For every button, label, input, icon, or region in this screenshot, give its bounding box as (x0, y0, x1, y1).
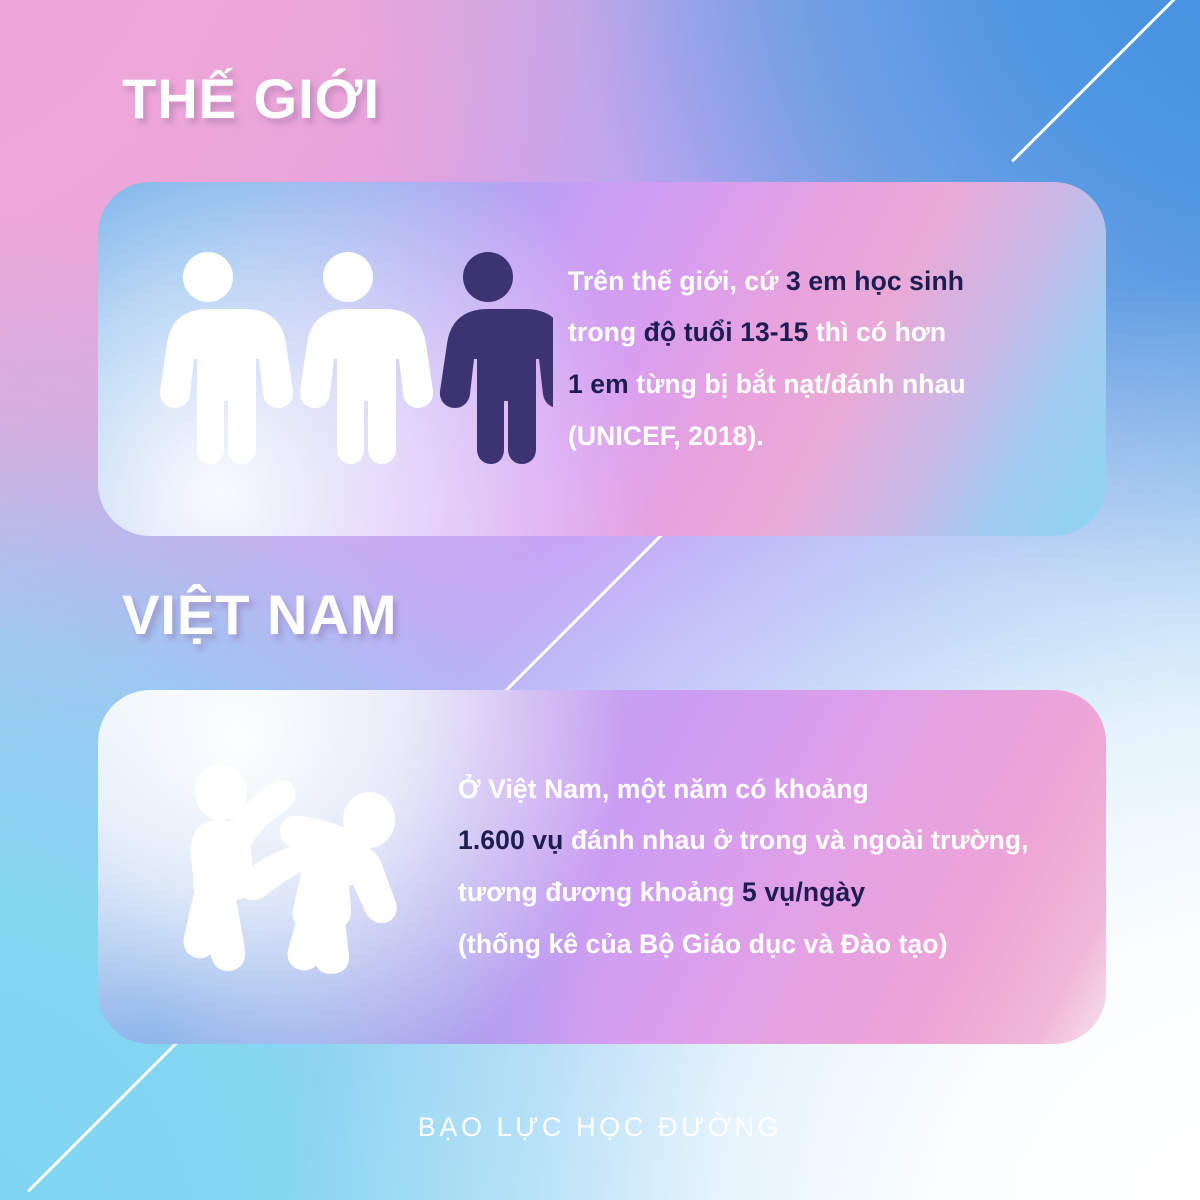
text-run: (UNICEF, 2018). (568, 421, 764, 451)
text-run: đánh nhau ở trong và ngoài trường, (563, 825, 1028, 855)
text-run: thì có hơn (808, 317, 946, 347)
text-run-highlight: 3 em học sinh (786, 266, 964, 296)
footer-label: BẠO LỰC HỌC ĐƯỜNG (0, 1112, 1200, 1143)
text-run: trong (568, 317, 644, 347)
three-people-icon (138, 249, 568, 469)
stat-card-vietnam: Ở Việt Nam, một năm có khoảng 1.600 vụ đ… (98, 690, 1106, 1044)
stat-text-line: (thống kê của Bộ Giáo dục và Đào tạo) (458, 919, 1076, 971)
text-run-highlight: 5 vụ/ngày (742, 877, 865, 907)
stat-text-line: 1.600 vụ đánh nhau ở trong và ngoài trườ… (458, 815, 1076, 867)
text-run-highlight: 1 em (568, 369, 629, 399)
section-heading-world: THẾ GIỚI (122, 66, 380, 131)
text-run: (thống kê của Bộ Giáo dục và Đào tạo) (458, 929, 948, 959)
text-run: Ở Việt Nam, một năm có khoảng (458, 774, 869, 804)
stat-text-line: Ở Việt Nam, một năm có khoảng (458, 764, 1076, 816)
stat-text-line: (UNICEF, 2018). (568, 411, 1046, 463)
text-run: Trên thế giới, cứ (568, 266, 786, 296)
stat-text-world: Trên thế giới, cứ 3 em học sinh trong độ… (568, 256, 1106, 463)
stat-card-world: Trên thế giới, cứ 3 em học sinh trong độ… (98, 182, 1106, 536)
stat-text-line: tương đương khoảng 5 vụ/ngày (458, 867, 1076, 919)
stat-text-line: 1 em từng bị bắt nạt/đánh nhau (568, 359, 1046, 411)
stat-text-line: trong độ tuổi 13-15 thì có hơn (568, 307, 1046, 359)
fighting-figures-icon (138, 760, 458, 975)
text-run-highlight: độ tuổi 13-15 (644, 317, 809, 347)
text-run: tương đương khoảng (458, 877, 742, 907)
stat-text-vietnam: Ở Việt Nam, một năm có khoảng 1.600 vụ đ… (458, 764, 1106, 971)
section-heading-vietnam: VIỆT NAM (122, 582, 398, 647)
infographic-poster: THẾ GIỚI Trên thế giới, cứ 3 em học sin (0, 0, 1200, 1200)
text-run-highlight: 1.600 vụ (458, 825, 563, 855)
stat-text-line: Trên thế giới, cứ 3 em học sinh (568, 256, 1046, 308)
text-run: từng bị bắt nạt/đánh nhau (629, 369, 966, 399)
